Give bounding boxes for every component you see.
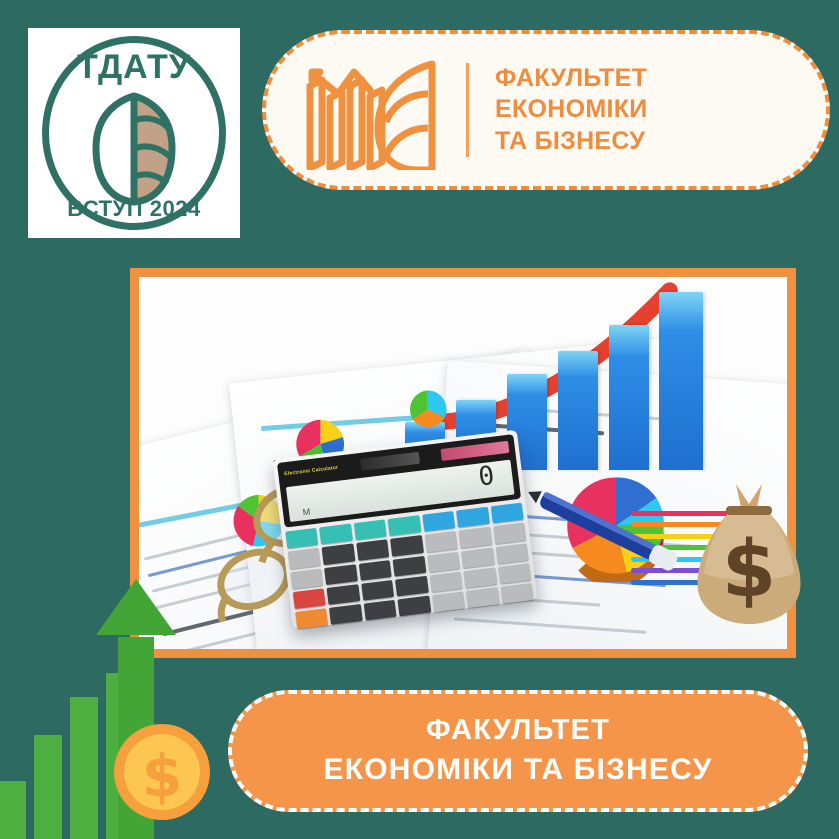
calculator-key	[424, 532, 457, 553]
calculator-key	[285, 528, 318, 549]
calculator-key	[322, 544, 355, 565]
faculty-header-badge: ФАКУЛЬТЕТ ЕКОНОМІКИ ТА БІЗНЕСУ	[262, 30, 830, 190]
logo-admission-year: ВСТУП 2024	[28, 196, 240, 222]
money-bag-icon: $	[690, 478, 808, 626]
calculator-key	[493, 523, 526, 544]
faculty-bottom-banner: ФАКУЛЬТЕТ ЕКОНОМІКИ ТА БІЗНЕСУ	[228, 690, 808, 812]
calculator-key	[461, 547, 494, 568]
calculator-key	[422, 512, 455, 533]
calculator-key	[427, 552, 460, 573]
calculator-key	[463, 567, 496, 588]
calculator-key	[324, 564, 357, 585]
poster-canvas: ТДАТУ ВСТУП 2024	[0, 0, 839, 839]
calculator-key	[429, 572, 462, 593]
calculator-key	[292, 588, 325, 609]
coin-dollar-symbol: $	[142, 742, 182, 810]
calculator-key	[390, 536, 423, 557]
calculator-key	[290, 568, 323, 589]
bar-chart-leaf-logo-icon	[300, 50, 460, 170]
calculator-key	[392, 556, 425, 577]
calculator-key	[495, 543, 528, 564]
calculator-key	[358, 560, 391, 581]
calculator-key	[395, 576, 428, 597]
leaf-emblem-icon	[74, 90, 194, 208]
logo-university-abbr: ТДАТУ	[28, 48, 240, 87]
dollar-coin-icon: $	[112, 722, 212, 822]
calculator-solar-cell	[359, 452, 419, 471]
pie-chart-icon	[392, 389, 463, 430]
calculator-key	[361, 580, 394, 601]
calculator-brand-label: Electronic Calculator	[284, 465, 339, 478]
calculator-key	[456, 507, 489, 528]
calculator: Electronic Calculator 0 M	[272, 430, 537, 630]
calculator-key	[319, 524, 352, 545]
calculator-key	[287, 548, 320, 569]
calculator-key	[458, 527, 491, 548]
calculator-key	[353, 520, 386, 541]
calculator-key	[388, 516, 421, 537]
calculator-key	[327, 584, 360, 605]
header-divider	[466, 63, 469, 157]
university-logo-card: ТДАТУ ВСТУП 2024	[28, 28, 240, 238]
bottom-banner-line2: ЕКОНОМІКИ ТА БІЗНЕСУ	[324, 750, 713, 791]
calculator-memory-indicator: M	[302, 507, 311, 518]
calculator-key	[356, 540, 389, 561]
faculty-header-text: ФАКУЛЬТЕТ ЕКОНОМІКИ ТА БІЗНЕСУ	[495, 63, 802, 157]
money-bag-dollar-symbol: $	[722, 525, 776, 615]
calculator-key	[490, 503, 523, 524]
calculator-decal-strip	[440, 441, 509, 462]
bottom-banner-line1: ФАКУЛЬТЕТ	[426, 711, 610, 750]
faculty-header-line2: ТА БІЗНЕСУ	[495, 126, 802, 157]
calculator-display-value: 0	[477, 463, 496, 491]
faculty-header-line1: ФАКУЛЬТЕТ ЕКОНОМІКИ	[495, 63, 802, 126]
calculator-key	[498, 563, 531, 584]
